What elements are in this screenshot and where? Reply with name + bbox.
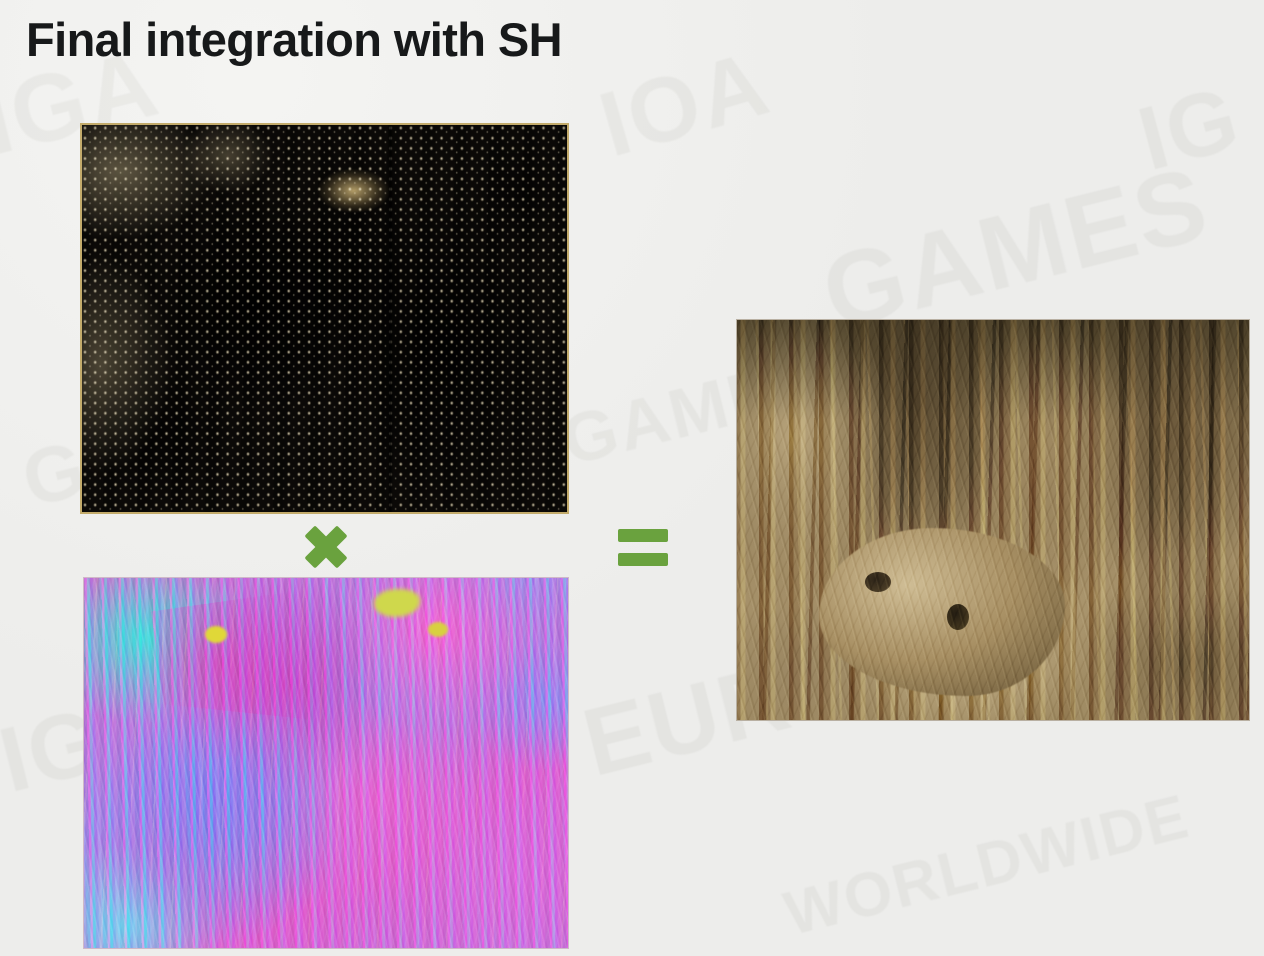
normal-map-yellow-blob	[205, 626, 227, 643]
watermark-text: IOA	[589, 31, 781, 179]
watermark-text: WORLDWIDE	[778, 781, 1197, 950]
shadow-map-seam-line	[388, 125, 393, 512]
normal-map-image	[83, 577, 569, 949]
multiply-icon	[302, 523, 350, 571]
slide-title: Final integration with SH	[26, 14, 562, 66]
result-image	[736, 319, 1250, 721]
slide-canvas: IGA IOA IG GAMES GAMES GAMES EUROPE IGA …	[0, 0, 1264, 956]
equals-icon	[618, 529, 668, 566]
shadow-map-highlight-layer	[82, 125, 567, 512]
result-top-shadow	[736, 319, 1250, 721]
equals-icon-stroke	[618, 529, 668, 542]
normal-map-grain-layer	[83, 577, 569, 949]
equals-icon-stroke	[618, 553, 668, 566]
shadow-map-image	[80, 123, 569, 514]
watermark-text: IG	[1128, 67, 1250, 192]
